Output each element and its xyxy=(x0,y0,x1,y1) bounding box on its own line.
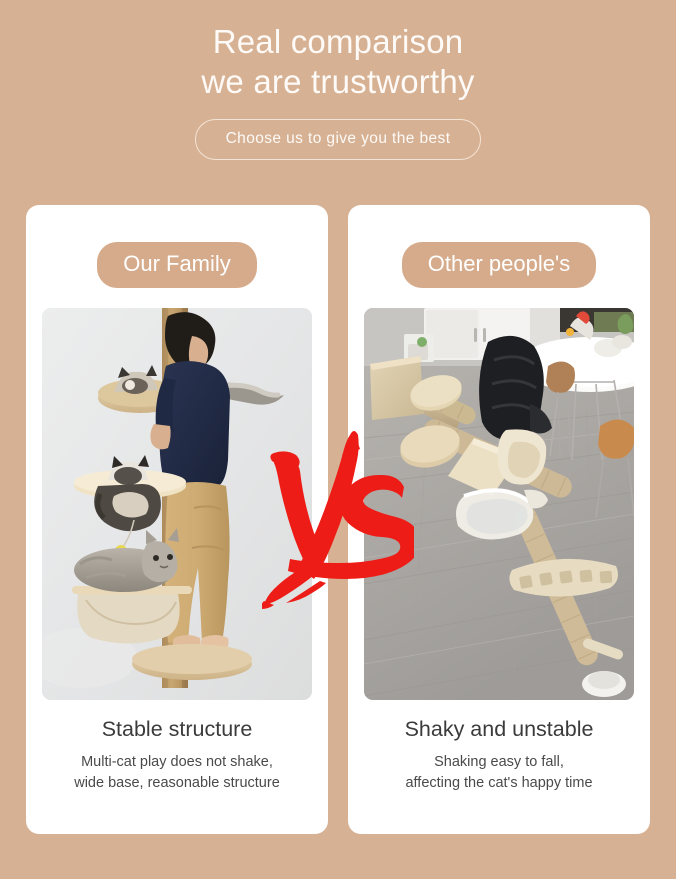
caption-title-our-family: Stable structure xyxy=(38,717,316,743)
card-badge-our-family: Our Family xyxy=(97,242,257,288)
photo-other-peoples-illustration xyxy=(364,308,634,700)
page-header: Real comparison we are trustworthy Choos… xyxy=(0,0,676,160)
caption-sub-our-family: Multi-cat play does not shake, wide base… xyxy=(38,752,316,794)
caption-sub-line-1: Multi-cat play does not shake, xyxy=(38,752,316,773)
page-title-line-2: we are trustworthy xyxy=(0,62,676,102)
caption-other-peoples: Shaky and unstable Shaking easy to fall,… xyxy=(360,717,638,794)
photo-our-family xyxy=(42,308,312,700)
card-badge-other-peoples: Other people's xyxy=(402,242,596,288)
comparison-card-other-peoples: Other people's xyxy=(348,205,650,834)
photo-our-family-illustration xyxy=(42,308,312,700)
caption-sub-other-peoples: Shaking easy to fall, affecting the cat'… xyxy=(360,752,638,794)
caption-sub-line-2: affecting the cat's happy time xyxy=(360,773,638,794)
comparison-section: Our Family xyxy=(0,205,676,834)
page-title-line-1: Real comparison xyxy=(0,22,676,62)
page-title: Real comparison we are trustworthy xyxy=(0,22,676,102)
caption-title-other-peoples: Shaky and unstable xyxy=(360,717,638,743)
caption-sub-line-1: Shaking easy to fall, xyxy=(360,752,638,773)
photo-other-peoples xyxy=(364,308,634,700)
choose-us-button[interactable]: Choose us to give you the best xyxy=(195,119,482,160)
caption-our-family: Stable structure Multi-cat play does not… xyxy=(38,717,316,794)
cta-container: Choose us to give you the best xyxy=(0,119,676,160)
caption-sub-line-2: wide base, reasonable structure xyxy=(38,773,316,794)
comparison-card-our-family: Our Family xyxy=(26,205,328,834)
